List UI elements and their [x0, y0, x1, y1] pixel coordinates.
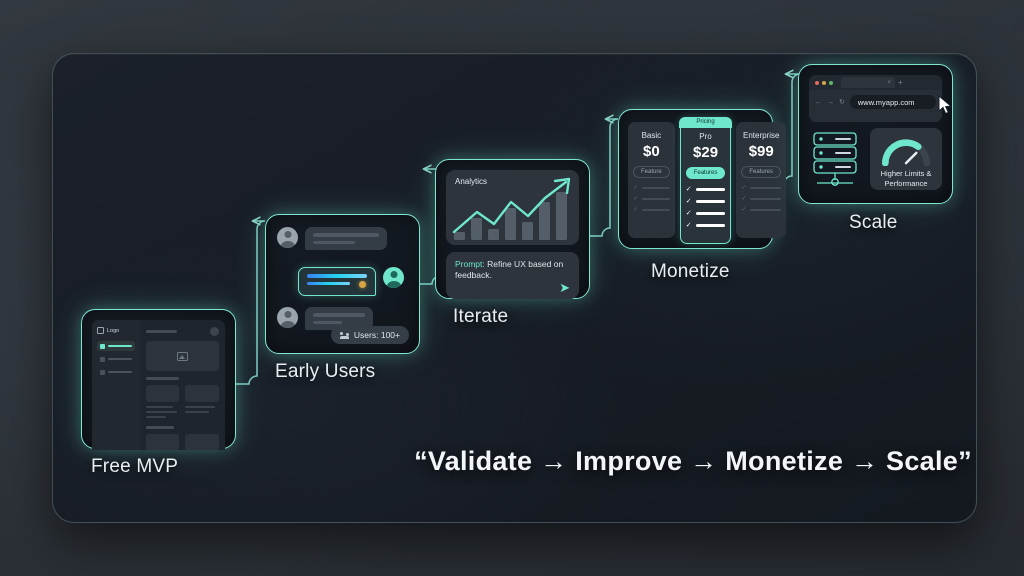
step-label-scale: Scale: [849, 212, 898, 234]
prompt-input[interactable]: Prompt: Refine UX based on feedback. ➤: [446, 252, 579, 299]
tier-feature-row: ✓: [633, 196, 670, 202]
text-line: [313, 321, 342, 325]
step-label-free-mvp: Free MVP: [91, 456, 178, 478]
check-icon: ✓: [686, 222, 692, 229]
url-bar[interactable]: www.myapp.com: [850, 95, 936, 109]
step-label-iterate: Iterate: [453, 306, 508, 328]
logo-label: Logo: [107, 328, 119, 334]
thumb-placeholder: [185, 434, 219, 450]
wireframe-nav-item[interactable]: [97, 354, 135, 364]
text-line: [146, 406, 173, 408]
tier-feature-row: ✓: [686, 198, 726, 205]
tier-feature-row: ✓: [741, 196, 781, 202]
step-card-scale[interactable]: × + ← → ↻ www.myapp.com: [798, 64, 953, 204]
title-placeholder: [146, 330, 177, 333]
tier-feature-row: ✓: [686, 186, 726, 193]
wireframe-nav-item[interactable]: [97, 367, 135, 377]
logo-square-icon: [97, 327, 104, 334]
maximize-traffic-light-icon[interactable]: [829, 81, 833, 85]
minimize-traffic-light-icon[interactable]: [822, 81, 826, 85]
step-card-free-mvp[interactable]: Logo: [81, 309, 236, 449]
chat-bubble-highlighted: [298, 267, 376, 296]
performance-kpi: Higher Limits & Performance: [870, 128, 942, 190]
thumb-placeholder: [146, 385, 180, 402]
prompt-text: Prompt: Refine UX based on feedback.: [455, 259, 570, 282]
text-line: [307, 274, 367, 278]
nav-dot-icon: [100, 344, 105, 349]
tier-price: $29: [693, 144, 718, 161]
tier-features-pill: Features: [741, 166, 781, 178]
step-card-iterate[interactable]: Analytics Prom: [435, 159, 590, 299]
pricing-tier-enterprise[interactable]: Enterprise $99 Features ✓ ✓ ✓: [736, 122, 786, 238]
feature-placeholder: [642, 187, 670, 190]
check-icon: ✓: [633, 207, 638, 213]
nav-label-placeholder: [108, 345, 132, 348]
new-tab-icon[interactable]: +: [898, 78, 903, 87]
wireframe-content: [140, 320, 225, 450]
hero-image-placeholder: [146, 341, 219, 371]
feature-placeholder: [696, 212, 726, 215]
feature-placeholder: [696, 224, 726, 227]
text-line: [313, 241, 355, 245]
text-line: [313, 233, 379, 237]
nav-dot-icon: [100, 357, 105, 362]
feature-placeholder: [696, 200, 726, 203]
avatar: [277, 227, 298, 248]
nav-label-placeholder: [108, 358, 132, 361]
prompt-key: Prompt:: [455, 259, 485, 269]
pricing-ribbon: Pricing: [679, 117, 731, 128]
browser-window: × + ← → ↻ www.myapp.com: [809, 75, 942, 122]
nav-label-placeholder: [108, 371, 132, 374]
analytics-chart: Analytics: [446, 170, 579, 245]
feature-placeholder: [642, 198, 670, 201]
check-icon: ✓: [741, 196, 746, 202]
text-line: [307, 282, 350, 286]
users-icon: [340, 332, 349, 339]
check-icon: ✓: [686, 186, 692, 193]
forward-icon[interactable]: →: [827, 99, 834, 106]
text-line: [185, 406, 215, 408]
check-icon: ✓: [686, 210, 692, 217]
text-line: [146, 416, 166, 418]
feature-placeholder: [696, 188, 726, 191]
analytics-title: Analytics: [455, 177, 487, 186]
check-icon: ✓: [633, 196, 638, 202]
tier-price: $99: [749, 143, 774, 160]
slide-canvas: Logo: [0, 0, 1024, 576]
step-card-early-users[interactable]: Users: 100+: [265, 214, 420, 354]
wireframe-card-grid: [146, 385, 219, 421]
users-count-label: Users: 100+: [354, 330, 400, 340]
tier-price: $0: [643, 143, 660, 160]
status-dot-icon: [359, 281, 366, 288]
feature-placeholder: [750, 209, 781, 212]
grid-cell: [146, 385, 180, 421]
summary-quote: “Validate → Improve → Monetize → Scale”: [408, 446, 977, 477]
pricing-table: Basic $0 Feature ✓ ✓ ✓: [628, 122, 763, 238]
check-icon: ✓: [741, 207, 746, 213]
tier-name: Basic: [642, 131, 662, 140]
back-icon[interactable]: ←: [815, 99, 822, 106]
performance-kpi-label: Higher Limits & Performance: [870, 169, 942, 189]
tier-feature-row: ✓: [633, 185, 670, 191]
wireframe-card-grid: [146, 434, 219, 450]
avatar: [210, 327, 219, 336]
thumb-placeholder: [146, 434, 180, 450]
step-label-early-users: Early Users: [275, 361, 375, 383]
avatar-active: [383, 267, 404, 288]
step-card-monetize[interactable]: Basic $0 Feature ✓ ✓ ✓: [618, 109, 773, 249]
chat-message-incoming: [277, 227, 387, 250]
thumb-placeholder: [185, 385, 219, 402]
gauge-icon: [878, 134, 934, 166]
tier-feature-row: ✓: [686, 222, 726, 229]
wireframe-sidebar: Logo: [92, 320, 140, 450]
text-line: [185, 411, 208, 413]
users-count-badge: Users: 100+: [331, 326, 409, 344]
tier-feature-row: ✓: [686, 210, 726, 217]
tier-feature-row: ✓: [633, 207, 670, 213]
reload-icon[interactable]: ↻: [839, 98, 845, 106]
step-label-monetize: Monetize: [651, 261, 730, 283]
grid-cell: [185, 385, 219, 421]
text-line: [146, 411, 177, 413]
grid-cell: [146, 434, 180, 450]
tier-features-pill: Feature: [633, 166, 670, 178]
tab-close-icon[interactable]: ×: [887, 80, 891, 86]
close-traffic-light-icon[interactable]: [815, 81, 819, 85]
tier-features-pill: Features: [686, 167, 726, 179]
tier-feature-row: ✓: [741, 207, 781, 213]
check-icon: ✓: [686, 198, 692, 205]
grid-cell: [185, 434, 219, 450]
wireframe-topbar: [146, 327, 219, 336]
browser-tab[interactable]: ×: [841, 77, 895, 88]
wireframe-logo: Logo: [97, 327, 135, 334]
section-heading-placeholder: [146, 426, 174, 429]
section-heading-placeholder: [146, 377, 179, 380]
text-line: [313, 313, 365, 317]
browser-toolbar: ← → ↻ www.myapp.com: [809, 90, 942, 114]
tier-name: Enterprise: [743, 131, 779, 140]
server-stack-icon: [811, 131, 863, 187]
feature-placeholder: [642, 209, 670, 212]
feature-placeholder: [750, 187, 781, 190]
tier-name: Pro: [699, 132, 711, 141]
wireframe-nav-item-active[interactable]: [97, 341, 135, 351]
chat-message-outgoing-highlighted: [298, 267, 404, 296]
pricing-tier-pro[interactable]: Pricing Pro $29 Features ✓ ✓ ✓: [680, 117, 732, 244]
feature-placeholder: [750, 198, 781, 201]
image-icon: [177, 352, 188, 361]
avatar: [277, 307, 298, 328]
wireframe-mockup: Logo: [92, 320, 225, 450]
diagram-panel: Logo: [52, 53, 977, 523]
check-icon: ✓: [741, 185, 746, 191]
send-icon[interactable]: ➤: [559, 281, 570, 294]
nav-dot-icon: [100, 370, 105, 375]
pricing-tier-basic[interactable]: Basic $0 Feature ✓ ✓ ✓: [628, 122, 675, 238]
browser-tabbar: × +: [809, 75, 942, 90]
check-icon: ✓: [633, 185, 638, 191]
chat-bubble: [305, 227, 387, 250]
tier-feature-row: ✓: [741, 185, 781, 191]
